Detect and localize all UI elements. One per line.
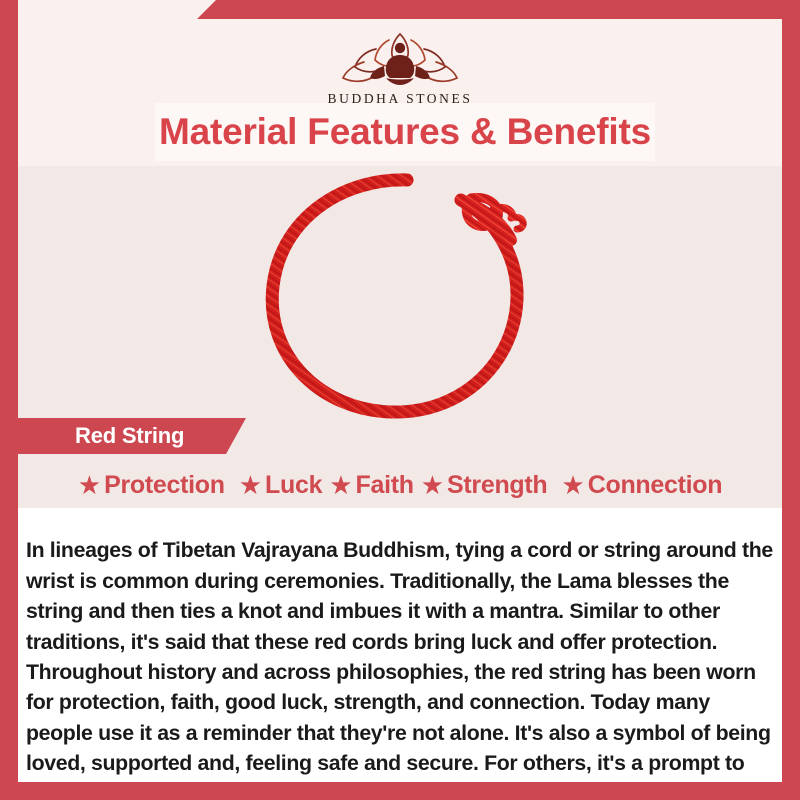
- star-icon: ★: [329, 472, 352, 498]
- benefit-item-protection: ★ Protection: [78, 471, 225, 500]
- benefit-label: Faith: [356, 471, 414, 500]
- benefit-item-connection: ★ Connection: [561, 471, 722, 500]
- benefit-item-luck: ★ Luck: [239, 471, 322, 500]
- red-braided-string-bracelet-icon: [235, 166, 565, 428]
- star-icon: ★: [239, 472, 262, 498]
- product-name-label: Red String: [75, 423, 184, 449]
- product-name-ribbon: Red String: [18, 418, 246, 454]
- frame-right-bar: [782, 0, 800, 800]
- page-title: Material Features & Benefits: [159, 111, 651, 153]
- frame-left-bar: [0, 0, 18, 800]
- frame-bottom-bar: [0, 782, 800, 800]
- description-paragraph: In lineages of Tibetan Vajrayana Buddhis…: [26, 535, 778, 800]
- lotus-meditation-icon: [334, 22, 466, 88]
- product-image-area: [18, 166, 782, 418]
- benefit-label: Protection: [104, 471, 225, 500]
- benefit-label: Luck: [265, 471, 322, 500]
- brand-logo-block: BUDDHA STONES: [0, 22, 800, 107]
- star-icon: ★: [561, 472, 584, 498]
- benefit-item-strength: ★ Strength: [421, 471, 548, 500]
- star-icon: ★: [421, 472, 444, 498]
- star-icon: ★: [78, 472, 101, 498]
- page-title-band: Material Features & Benefits: [155, 103, 655, 161]
- benefits-row: ★ Protection ★ Luck ★ Faith ★ Strength ★…: [18, 464, 782, 506]
- benefit-label: Strength: [447, 471, 547, 500]
- infographic-canvas: BUDDHA STONES Material Features & Benefi…: [0, 0, 800, 800]
- benefit-item-faith: ★ Faith: [329, 471, 414, 500]
- benefit-label: Connection: [588, 471, 723, 500]
